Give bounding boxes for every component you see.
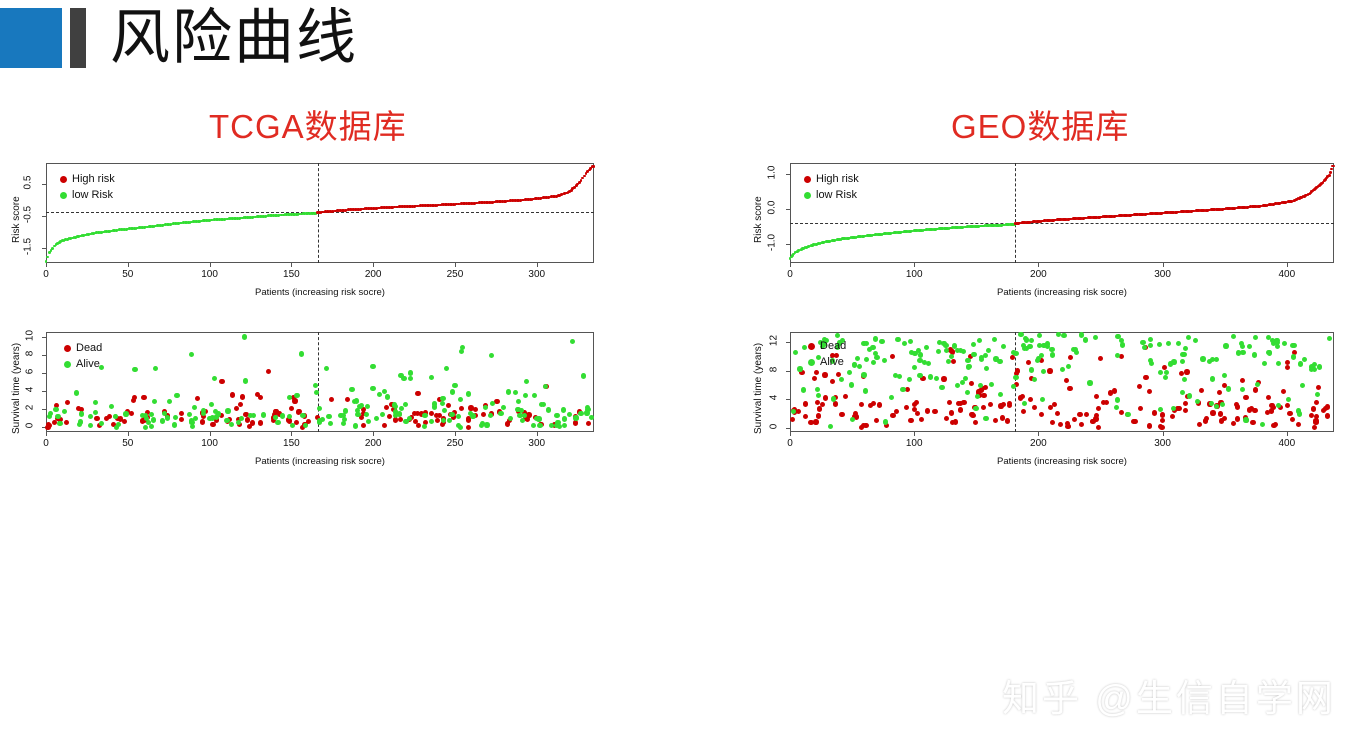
x-tick-label: 300 bbox=[523, 438, 551, 449]
x-tick-label: 300 bbox=[1149, 438, 1177, 449]
data-point bbox=[165, 415, 170, 420]
y-tick bbox=[42, 373, 46, 374]
data-point bbox=[1094, 394, 1099, 399]
x-tick-label: 200 bbox=[359, 438, 387, 449]
data-point bbox=[207, 416, 212, 421]
data-point bbox=[584, 410, 589, 415]
data-point bbox=[1087, 380, 1092, 385]
data-point bbox=[981, 393, 986, 398]
data-point bbox=[570, 339, 575, 344]
x-tick-label: 200 bbox=[359, 269, 387, 280]
data-point bbox=[951, 359, 956, 364]
x-tick bbox=[790, 263, 791, 267]
y-tick-label: 0 bbox=[25, 416, 36, 436]
y-tick bbox=[786, 428, 790, 429]
data-point bbox=[1024, 337, 1029, 342]
data-point bbox=[998, 392, 1003, 397]
data-point bbox=[1104, 400, 1109, 405]
data-point bbox=[900, 387, 905, 392]
x-tick bbox=[128, 263, 129, 267]
data-point bbox=[908, 418, 913, 423]
data-point bbox=[224, 418, 229, 423]
data-point bbox=[104, 416, 109, 421]
data-point bbox=[816, 393, 821, 398]
data-point bbox=[1234, 402, 1239, 407]
y-tick-label: 4 bbox=[25, 380, 36, 400]
data-point bbox=[1187, 393, 1192, 398]
data-point bbox=[1176, 341, 1181, 346]
data-point bbox=[275, 420, 280, 425]
data-point bbox=[1072, 417, 1077, 422]
data-point bbox=[292, 398, 297, 403]
data-point bbox=[839, 377, 844, 382]
y-tick-label: 0.5 bbox=[23, 170, 34, 194]
data-point bbox=[1079, 422, 1084, 427]
data-point bbox=[341, 413, 346, 418]
data-point bbox=[329, 397, 334, 402]
data-point bbox=[354, 398, 359, 403]
data-point bbox=[384, 405, 389, 410]
data-point bbox=[955, 383, 960, 388]
data-point bbox=[1055, 411, 1060, 416]
y-tick bbox=[42, 184, 46, 185]
data-point bbox=[506, 389, 511, 394]
data-point bbox=[429, 419, 434, 424]
data-point bbox=[524, 379, 529, 384]
data-point bbox=[1282, 341, 1287, 346]
chart-geo-survival: 048120100200300400Patients (increasing r… bbox=[742, 322, 1362, 487]
data-point bbox=[907, 377, 912, 382]
data-point bbox=[1183, 408, 1188, 413]
data-point bbox=[440, 396, 445, 401]
data-point bbox=[258, 420, 263, 425]
data-point bbox=[219, 379, 224, 384]
data-point bbox=[1226, 386, 1231, 391]
x-tick bbox=[914, 263, 915, 267]
data-point bbox=[554, 413, 559, 418]
x-tick-label: 150 bbox=[277, 438, 305, 449]
x-tick bbox=[537, 263, 538, 267]
x-tick bbox=[46, 263, 47, 267]
data-point bbox=[949, 410, 954, 415]
data-point bbox=[983, 416, 988, 421]
x-tick bbox=[914, 432, 915, 436]
x-tick-label: 50 bbox=[114, 438, 142, 449]
watermark: 知乎 @生信自学网 bbox=[1002, 668, 1336, 722]
data-point bbox=[173, 415, 178, 420]
x-tick-label: 300 bbox=[523, 269, 551, 280]
data-point bbox=[225, 408, 230, 413]
data-point bbox=[1269, 408, 1274, 413]
x-tick bbox=[455, 432, 456, 436]
data-point bbox=[877, 402, 882, 407]
chart-tcga-heatmap: typeGSTA2CKMT2RDH12ASAH1ME1POLD3ACYP1POL… bbox=[0, 488, 700, 754]
data-point bbox=[1252, 408, 1257, 413]
legend-item-high-risk: High risk bbox=[804, 173, 859, 185]
data-point bbox=[915, 411, 920, 416]
data-point bbox=[398, 373, 403, 378]
data-point bbox=[195, 396, 200, 401]
y-tick bbox=[786, 371, 790, 372]
y-tick-label: 1.0 bbox=[767, 160, 778, 184]
data-point bbox=[859, 402, 864, 407]
data-point bbox=[1271, 423, 1276, 428]
data-point bbox=[1005, 418, 1010, 423]
y-tick bbox=[786, 209, 790, 210]
data-point bbox=[1243, 417, 1248, 422]
cutoff-vertical-line bbox=[1015, 163, 1016, 263]
data-point bbox=[1285, 403, 1290, 408]
legend-label: Alive bbox=[76, 358, 100, 370]
x-tick bbox=[790, 432, 791, 436]
data-point bbox=[408, 370, 413, 375]
x-tick-label: 150 bbox=[277, 269, 305, 280]
data-point bbox=[1180, 390, 1185, 395]
data-point bbox=[1040, 397, 1045, 402]
data-point bbox=[1325, 413, 1330, 418]
data-point bbox=[1140, 340, 1145, 345]
data-point bbox=[498, 411, 503, 416]
data-point bbox=[1210, 410, 1215, 415]
data-point bbox=[88, 423, 93, 428]
data-point bbox=[1220, 402, 1225, 407]
data-point bbox=[1275, 344, 1280, 349]
data-point bbox=[1291, 354, 1296, 359]
chart-geo-risk-score: 1.00.0-1.00100200300400Patients (increas… bbox=[742, 155, 1362, 320]
data-point bbox=[370, 386, 375, 391]
data-point bbox=[261, 412, 266, 417]
data-point bbox=[1158, 424, 1163, 429]
data-point bbox=[240, 394, 245, 399]
x-tick-label: 0 bbox=[776, 269, 804, 280]
y-tick bbox=[786, 399, 790, 400]
data-point bbox=[1313, 420, 1318, 425]
data-point bbox=[187, 412, 192, 417]
data-point bbox=[245, 417, 250, 422]
data-point bbox=[953, 419, 958, 424]
data-point bbox=[1068, 386, 1073, 391]
data-point bbox=[1184, 369, 1189, 374]
data-point bbox=[299, 351, 304, 356]
data-point bbox=[422, 413, 427, 418]
data-point bbox=[561, 407, 566, 412]
data-point bbox=[466, 391, 471, 396]
y-tick bbox=[42, 216, 46, 217]
data-point bbox=[833, 401, 838, 406]
data-point bbox=[943, 343, 948, 348]
y-tick-label: 0.0 bbox=[767, 195, 778, 219]
data-point bbox=[398, 417, 403, 422]
data-point bbox=[132, 367, 137, 372]
data-point bbox=[1061, 333, 1066, 338]
y-tick-label: 8 bbox=[25, 344, 36, 364]
data-point bbox=[1050, 420, 1055, 425]
y-tick bbox=[42, 355, 46, 356]
x-tick bbox=[1287, 263, 1288, 267]
panel-title-tcga: TCGA数据库 bbox=[209, 100, 407, 148]
plot-frame bbox=[790, 163, 1334, 263]
data-point bbox=[543, 384, 548, 389]
x-tick-label: 200 bbox=[1024, 269, 1052, 280]
data-point bbox=[1287, 411, 1292, 416]
x-tick-label: 100 bbox=[900, 438, 928, 449]
data-point bbox=[928, 374, 933, 379]
data-point bbox=[450, 389, 455, 394]
data-point bbox=[1164, 370, 1169, 375]
data-point bbox=[874, 355, 879, 360]
cutoff-horizontal-line bbox=[790, 223, 1334, 224]
legend-item-high-risk: High risk bbox=[60, 173, 115, 185]
y-tick-label: 8 bbox=[769, 359, 780, 379]
legend-label: Dead bbox=[820, 340, 846, 352]
data-point bbox=[1013, 375, 1018, 380]
data-point bbox=[1160, 418, 1165, 423]
y-tick bbox=[786, 244, 790, 245]
data-point bbox=[99, 421, 104, 426]
data-point bbox=[581, 373, 586, 378]
data-point bbox=[932, 409, 937, 414]
data-point bbox=[870, 345, 875, 350]
data-point bbox=[894, 409, 899, 414]
x-tick bbox=[291, 263, 292, 267]
data-point bbox=[1083, 337, 1088, 342]
data-point bbox=[326, 414, 331, 419]
data-point bbox=[879, 339, 884, 344]
data-point bbox=[1032, 377, 1037, 382]
legend-color-swatch bbox=[808, 359, 815, 366]
data-point bbox=[997, 359, 1002, 364]
x-axis-label: Patients (increasing risk socre) bbox=[46, 456, 594, 467]
data-point bbox=[1223, 343, 1228, 348]
data-point bbox=[1060, 367, 1065, 372]
data-point bbox=[273, 415, 278, 420]
data-point bbox=[918, 352, 923, 357]
data-point bbox=[1329, 171, 1332, 174]
data-point bbox=[76, 406, 81, 411]
x-tick-label: 100 bbox=[196, 438, 224, 449]
data-point bbox=[403, 419, 408, 424]
data-point bbox=[895, 337, 900, 342]
legend-item-dead: Dead bbox=[808, 340, 846, 352]
data-point bbox=[791, 409, 796, 414]
data-point bbox=[242, 334, 247, 339]
x-tick bbox=[373, 432, 374, 436]
data-point bbox=[349, 387, 354, 392]
data-point bbox=[855, 356, 860, 361]
data-point bbox=[904, 405, 909, 410]
data-point bbox=[200, 419, 205, 424]
data-point bbox=[790, 417, 795, 422]
legend-label: High risk bbox=[72, 173, 115, 185]
x-tick bbox=[1038, 263, 1039, 267]
data-point bbox=[934, 376, 939, 381]
data-point bbox=[449, 412, 454, 417]
data-point bbox=[593, 165, 596, 168]
data-point bbox=[1015, 368, 1020, 373]
data-point bbox=[534, 416, 539, 421]
data-point bbox=[925, 408, 930, 413]
data-point bbox=[914, 400, 919, 405]
chart-tcga-risk-score: 0.5-0.5-1.5050100150200250300Patients (i… bbox=[0, 155, 620, 320]
y-tick bbox=[42, 337, 46, 338]
data-point bbox=[1077, 412, 1082, 417]
x-tick-label: 100 bbox=[196, 269, 224, 280]
y-axis-label: Risk score bbox=[11, 196, 22, 243]
data-point bbox=[562, 416, 567, 421]
data-point bbox=[141, 395, 146, 400]
data-point bbox=[179, 417, 184, 422]
x-tick-label: 0 bbox=[32, 269, 60, 280]
x-tick-label: 250 bbox=[441, 269, 469, 280]
slide-canvas: 风险曲线 TCGA数据库 GEO数据库 0.5-0.5-1.5050100150… bbox=[0, 0, 1366, 754]
y-tick-label: -0.5 bbox=[23, 203, 34, 227]
data-point bbox=[1125, 412, 1130, 417]
data-point bbox=[1020, 394, 1025, 399]
data-point bbox=[1114, 405, 1119, 410]
data-point bbox=[57, 421, 62, 426]
data-point bbox=[1195, 399, 1200, 404]
data-point bbox=[823, 395, 828, 400]
data-point bbox=[1240, 387, 1245, 392]
data-point bbox=[917, 373, 922, 378]
data-point bbox=[912, 407, 917, 412]
y-tick bbox=[786, 342, 790, 343]
data-point bbox=[1328, 174, 1331, 177]
data-point bbox=[1262, 361, 1267, 366]
data-point bbox=[365, 404, 370, 409]
data-point bbox=[864, 357, 869, 362]
data-point bbox=[1143, 375, 1148, 380]
data-point bbox=[971, 352, 976, 357]
data-point bbox=[852, 362, 857, 367]
data-point bbox=[229, 422, 234, 427]
x-tick-label: 400 bbox=[1273, 438, 1301, 449]
data-point bbox=[151, 417, 156, 422]
data-point bbox=[1333, 165, 1336, 168]
legend-color-swatch bbox=[64, 361, 71, 368]
data-point bbox=[123, 411, 128, 416]
data-point bbox=[1231, 334, 1236, 339]
data-point bbox=[546, 407, 551, 412]
y-tick-label: 6 bbox=[25, 362, 36, 382]
data-point bbox=[382, 389, 387, 394]
data-point bbox=[247, 424, 252, 429]
data-point bbox=[1267, 350, 1272, 355]
data-point bbox=[172, 422, 177, 427]
data-point bbox=[992, 337, 997, 342]
x-tick bbox=[1038, 432, 1039, 436]
data-point bbox=[290, 423, 295, 428]
data-point bbox=[1029, 367, 1034, 372]
legend-item-low-risk: low Risk bbox=[60, 189, 113, 201]
data-point bbox=[353, 423, 358, 428]
x-tick-label: 200 bbox=[1024, 438, 1052, 449]
data-point bbox=[415, 391, 420, 396]
y-tick bbox=[42, 391, 46, 392]
data-point bbox=[814, 370, 819, 375]
x-tick-label: 300 bbox=[1149, 269, 1177, 280]
data-point bbox=[1240, 350, 1245, 355]
x-tick bbox=[210, 432, 211, 436]
data-point bbox=[797, 366, 802, 371]
data-point bbox=[861, 372, 866, 377]
data-point bbox=[537, 423, 542, 428]
data-point bbox=[93, 410, 98, 415]
data-point bbox=[380, 412, 385, 417]
data-point bbox=[62, 409, 67, 414]
data-point bbox=[1152, 410, 1157, 415]
data-point bbox=[960, 380, 965, 385]
data-point bbox=[965, 358, 970, 363]
legend-label: High risk bbox=[816, 173, 859, 185]
data-point bbox=[1112, 388, 1117, 393]
data-point bbox=[889, 395, 894, 400]
data-point bbox=[212, 376, 217, 381]
data-point bbox=[160, 418, 165, 423]
x-tick bbox=[1163, 432, 1164, 436]
x-axis-label: Patients (increasing risk socre) bbox=[790, 287, 1334, 298]
data-point bbox=[468, 405, 473, 410]
data-point bbox=[1098, 356, 1103, 361]
x-tick-label: 0 bbox=[776, 438, 804, 449]
data-point bbox=[817, 406, 822, 411]
data-point bbox=[802, 345, 807, 350]
data-point bbox=[1037, 333, 1042, 338]
data-point bbox=[1302, 357, 1307, 362]
data-point bbox=[1200, 356, 1205, 361]
data-point bbox=[422, 424, 427, 429]
data-point bbox=[541, 402, 546, 407]
data-point bbox=[519, 408, 524, 413]
legend-color-swatch bbox=[808, 343, 815, 350]
data-point bbox=[1231, 421, 1236, 426]
data-point bbox=[1047, 368, 1052, 373]
data-point bbox=[189, 352, 194, 357]
data-point bbox=[1168, 361, 1173, 366]
data-point bbox=[456, 423, 461, 428]
data-point bbox=[1013, 351, 1018, 356]
y-tick bbox=[786, 174, 790, 175]
legend-item-dead: Dead bbox=[64, 342, 102, 354]
x-tick bbox=[1287, 432, 1288, 436]
x-tick-label: 250 bbox=[441, 438, 469, 449]
data-point bbox=[944, 348, 949, 353]
data-point bbox=[501, 405, 506, 410]
data-point bbox=[441, 418, 446, 423]
x-axis-label: Patients (increasing risk socre) bbox=[46, 287, 594, 298]
y-tick-label: 0 bbox=[769, 416, 780, 436]
data-point bbox=[1298, 361, 1303, 366]
data-point bbox=[317, 406, 322, 411]
data-point bbox=[873, 336, 878, 341]
data-point bbox=[803, 401, 808, 406]
data-point bbox=[973, 406, 978, 411]
data-point bbox=[849, 382, 854, 387]
data-point bbox=[847, 370, 852, 375]
y-axis-label: Survival time (years) bbox=[11, 343, 22, 434]
data-point bbox=[947, 400, 952, 405]
data-point bbox=[981, 405, 986, 410]
x-tick bbox=[128, 432, 129, 436]
y-tick-label: 12 bbox=[769, 331, 780, 351]
data-point bbox=[952, 343, 957, 348]
x-tick bbox=[1163, 263, 1164, 267]
data-point bbox=[210, 422, 215, 427]
data-point bbox=[1065, 424, 1070, 429]
data-point bbox=[1045, 341, 1050, 346]
data-point bbox=[488, 413, 493, 418]
data-point bbox=[1312, 425, 1317, 430]
